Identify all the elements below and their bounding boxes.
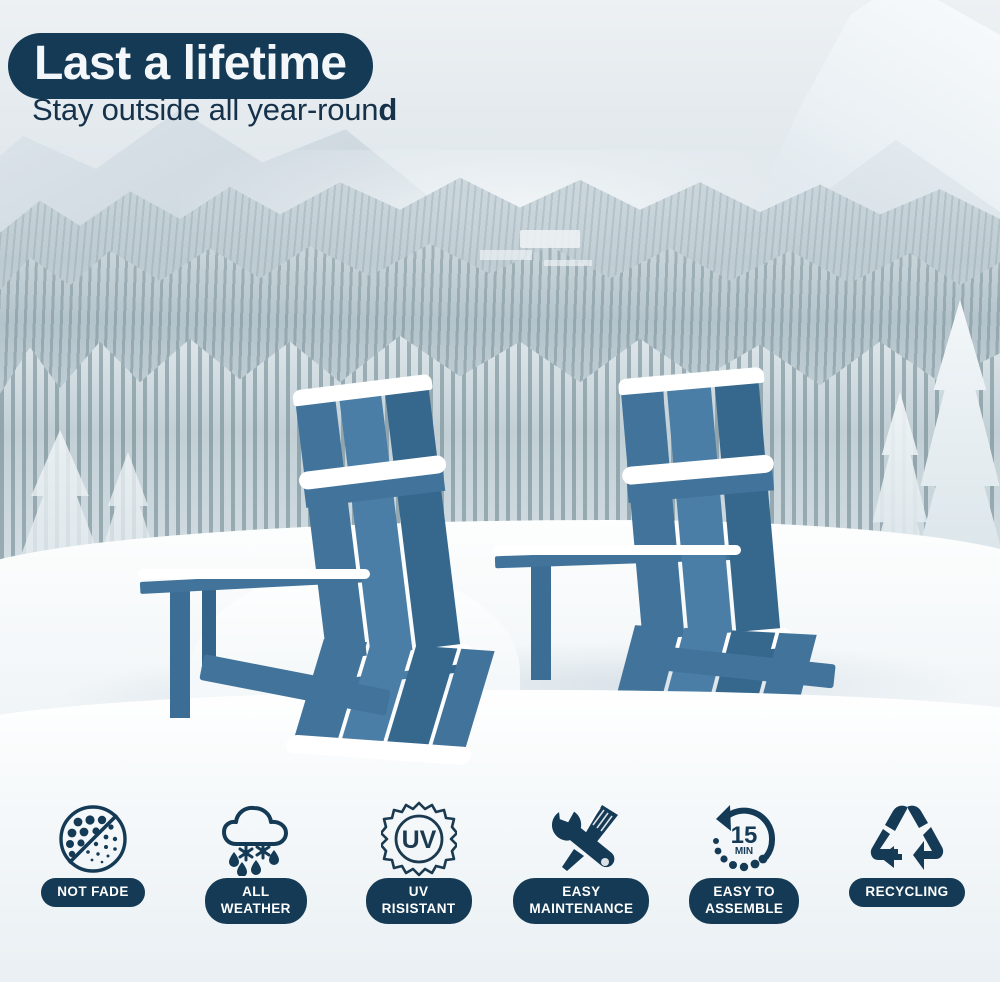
- feature-easy-maintenance[interactable]: EASY MAINTENANCE: [502, 800, 660, 924]
- chair-front-leg: [531, 560, 551, 680]
- page-subtitle: Stay outside all year-round: [32, 92, 397, 128]
- chair-backrest: [620, 367, 785, 670]
- snow-on-armrest: [493, 545, 741, 555]
- valley-buildings: [520, 230, 580, 248]
- timer-icon-unit: MIN: [735, 846, 753, 857]
- feature-all-weather[interactable]: ALL WEATHER: [177, 800, 335, 924]
- chair-front-leg: [170, 584, 190, 718]
- feature-not-fade[interactable]: NOT FADE: [14, 800, 172, 907]
- product-infographic: Last a lifetime Stay outside all year-ro…: [0, 0, 1000, 1000]
- feature-label: NOT FADE: [41, 878, 144, 907]
- timer-15-min-icon: 15 MIN: [665, 800, 823, 878]
- feature-easy-to-assemble[interactable]: 15 MIN EASY TO ASSEMBLE: [665, 800, 823, 924]
- wrench-screwdriver-icon: [502, 800, 660, 878]
- feature-label: ALL WEATHER: [205, 878, 307, 924]
- no-fade-icon: [14, 800, 172, 878]
- uv-badge-icon: UV: [340, 800, 498, 878]
- chair-backrest: [294, 374, 465, 688]
- recycling-icon: [828, 800, 986, 878]
- snow-on-armrest: [138, 569, 370, 579]
- feature-label: RECYCLING: [849, 878, 964, 907]
- all-weather-icon: [177, 800, 335, 878]
- page-subtitle-plain: Stay outside all year-roun: [32, 92, 378, 127]
- feature-label: EASY MAINTENANCE: [513, 878, 649, 924]
- feature-badge-row: NOT FADE ALL: [0, 800, 1000, 950]
- uv-icon-text: UV: [401, 826, 436, 854]
- page-subtitle-bold: d: [378, 92, 397, 127]
- timer-icon-number: 15: [731, 822, 758, 849]
- feature-label: UV RISISTANT: [366, 878, 472, 924]
- feature-label: EASY TO ASSEMBLE: [689, 878, 799, 924]
- page-title: Last a lifetime: [8, 33, 373, 99]
- adirondack-chair-left: [140, 380, 520, 740]
- feature-recycling[interactable]: RECYCLING: [828, 800, 986, 907]
- adirondack-chair-right: [495, 372, 875, 712]
- feature-uv-resistant[interactable]: UV UV RISISTANT: [340, 800, 498, 924]
